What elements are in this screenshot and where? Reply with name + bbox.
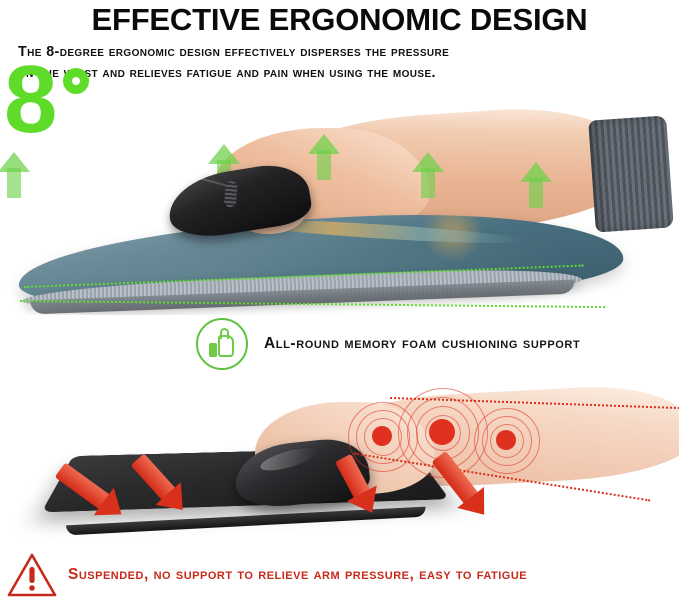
- angle-value: 8: [4, 62, 55, 139]
- warning-caption: Suspended, no support to relieve arm pre…: [6, 552, 527, 598]
- ergonomic-wrist-rest-photo: [0, 100, 679, 315]
- subtitle-line-1: The 8-degree ergonomic design effectivel…: [18, 42, 663, 63]
- warning-caption-text: Suspended, no support to relieve arm pre…: [68, 566, 527, 584]
- subtitle: The 8-degree ergonomic design effectivel…: [18, 42, 663, 84]
- flat-mouse-pad-photo: [0, 376, 679, 556]
- product-feature-infographic: EFFECTIVE ERGONOMIC DESIGN The 8-degree …: [0, 0, 679, 607]
- degree-symbol-icon: [63, 68, 89, 94]
- mouse-scroll-wheel: [224, 181, 238, 208]
- warning-triangle-icon: [6, 552, 58, 598]
- angle-badge: 8: [4, 62, 89, 139]
- thumbs-up-icon: [196, 318, 248, 370]
- sleeve-cuff: [588, 115, 674, 232]
- mouse-highlight: [258, 444, 318, 475]
- pressure-point-icon: [474, 408, 538, 472]
- positive-caption: All-round memory foam cushioning support: [196, 318, 580, 370]
- page-title: EFFECTIVE ERGONOMIC DESIGN: [0, 2, 679, 38]
- positive-caption-text: All-round memory foam cushioning support: [264, 335, 580, 353]
- subtitle-line-2: on the wrist and relieves fatigue and pa…: [18, 63, 663, 84]
